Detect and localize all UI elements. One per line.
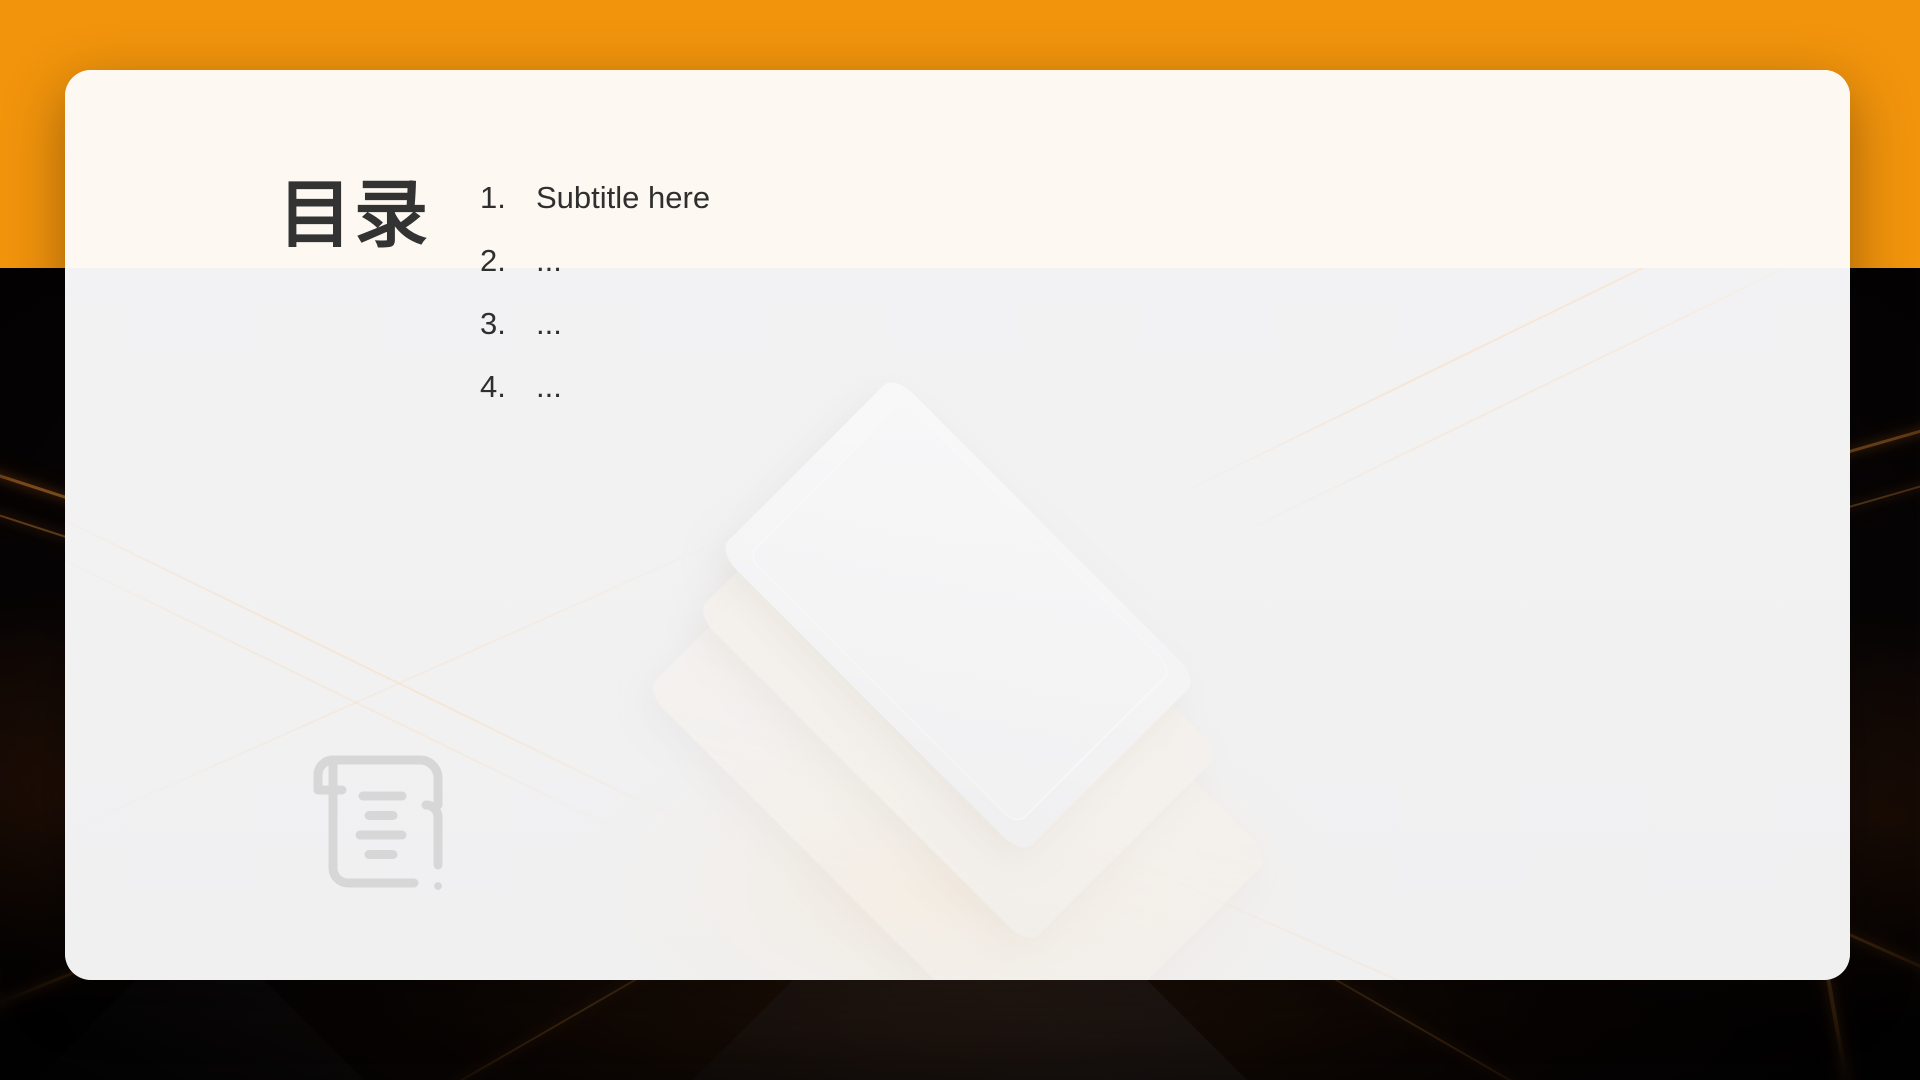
document-scroll-alert-icon (291, 730, 471, 910)
list-item[interactable]: 1. Subtitle here (480, 180, 710, 243)
list-item-number: 1. (480, 180, 536, 216)
page-title: 目录 (278, 178, 430, 252)
slide-stage: 目录 1. Subtitle here 2. ... 3. ... 4. ... (0, 0, 1920, 1080)
list-item-number: 3. (480, 306, 536, 342)
table-of-contents-list: 1. Subtitle here 2. ... 3. ... 4. ... (480, 180, 710, 432)
card-content: 目录 1. Subtitle here 2. ... 3. ... 4. ... (65, 70, 1850, 980)
list-item[interactable]: 3. ... (480, 306, 710, 369)
list-item-label: ... (536, 306, 562, 342)
list-item-number: 4. (480, 369, 536, 405)
list-item-number: 2. (480, 243, 536, 279)
list-item-label: Subtitle here (536, 180, 710, 216)
list-item-label: ... (536, 243, 562, 279)
list-item-label: ... (536, 369, 562, 405)
list-item[interactable]: 4. ... (480, 369, 710, 432)
content-card: 目录 1. Subtitle here 2. ... 3. ... 4. ... (65, 70, 1850, 980)
list-item[interactable]: 2. ... (480, 243, 710, 306)
